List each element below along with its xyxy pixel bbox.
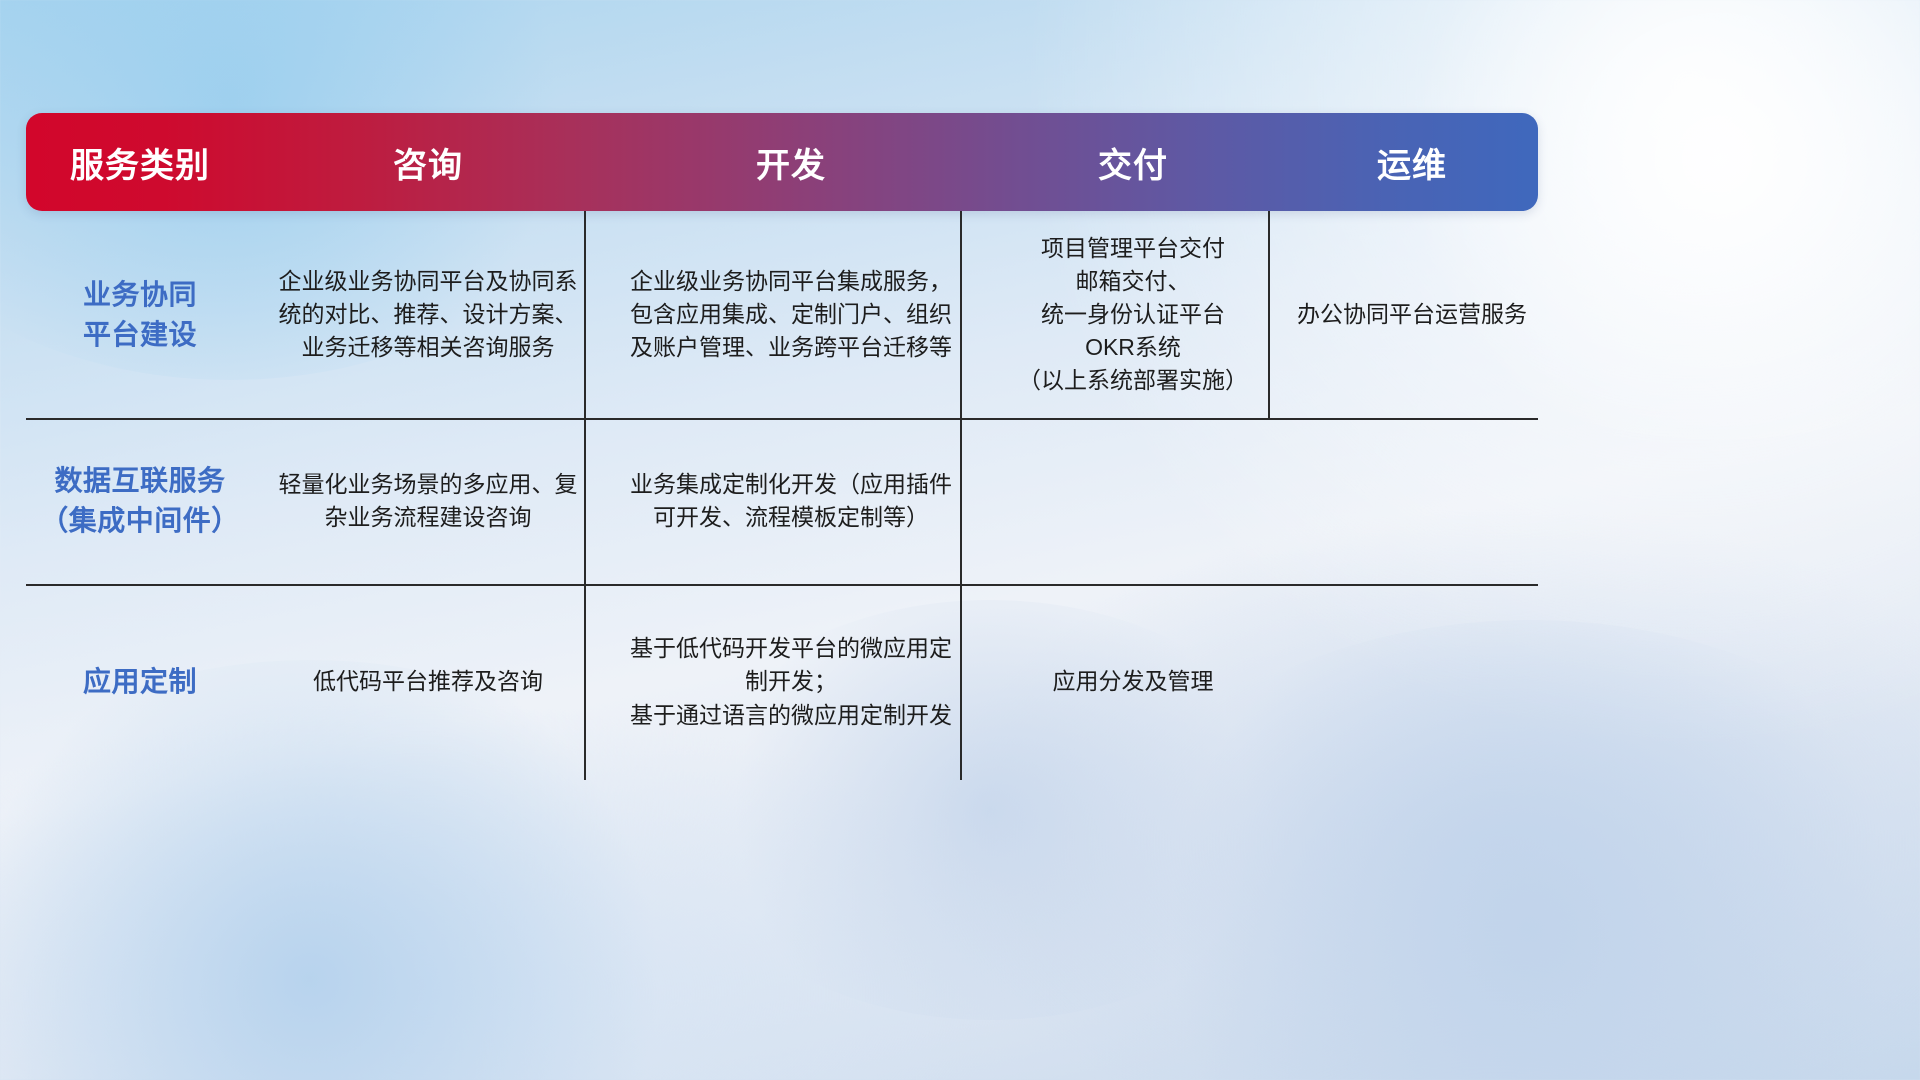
table-header-row: 服务类别 咨询 开发 交付 运维 <box>26 113 1538 211</box>
cell-delivery: 项目管理平台交付 邮箱交付、 统一身份认证平台 OKR系统 （以上系统部署实施） <box>980 211 1286 418</box>
column-divider-1 <box>584 211 586 780</box>
cell-text: 企业级业务协同平台及协同系 统的对比、推荐、设计方案、 业务迁移等相关咨询服务 <box>279 265 578 364</box>
header-cell-development: 开发 <box>602 138 980 187</box>
service-matrix-table: 服务类别 咨询 开发 交付 运维 业务协同 平台建设 企业级业务协同平台及协同系… <box>26 113 1538 780</box>
table-row: 数据互联服务 （集成中间件） 轻量化业务场景的多应用、复 杂业务流程建设咨询 业… <box>26 418 1538 584</box>
column-divider-3 <box>1268 211 1270 418</box>
cell-development: 企业级业务协同平台集成服务， 包含应用集成、定制门户、组织 及账户管理、业务跨平… <box>602 211 980 418</box>
table-row: 应用定制 低代码平台推荐及咨询 基于低代码开发平台的微应用定 制开发； 基于通过… <box>26 584 1538 780</box>
cell-consulting: 轻量化业务场景的多应用、复 杂业务流程建设咨询 <box>254 418 602 584</box>
cell-text: 企业级业务协同平台集成服务， 包含应用集成、定制门户、组织 及账户管理、业务跨平… <box>630 265 952 364</box>
column-divider-2 <box>960 211 962 780</box>
row-divider-1 <box>26 418 1538 420</box>
header-cell-operations: 运维 <box>1286 138 1538 187</box>
cell-text: 项目管理平台交付 邮箱交付、 统一身份认证平台 OKR系统 （以上系统部署实施） <box>1018 232 1248 398</box>
row-category-cell: 应用定制 <box>26 584 254 780</box>
row-category-cell: 业务协同 平台建设 <box>26 211 254 418</box>
cell-text: 低代码平台推荐及咨询 <box>313 665 543 698</box>
cell-operations <box>1286 584 1538 780</box>
row-category-cell: 数据互联服务 （集成中间件） <box>26 418 254 584</box>
cell-text: 业务集成定制化开发（应用插件 可开发、流程模板定制等） <box>630 468 952 534</box>
cell-text: 基于低代码开发平台的微应用定 制开发； 基于通过语言的微应用定制开发 <box>630 632 952 731</box>
table-row: 业务协同 平台建设 企业级业务协同平台及协同系 统的对比、推荐、设计方案、 业务… <box>26 211 1538 418</box>
header-cell-consulting: 咨询 <box>254 138 602 187</box>
table-body: 业务协同 平台建设 企业级业务协同平台及协同系 统的对比、推荐、设计方案、 业务… <box>26 211 1538 780</box>
category-label: 业务协同 平台建设 <box>83 275 197 355</box>
cell-text: 办公协同平台运营服务 <box>1297 298 1527 331</box>
cell-operations <box>1286 418 1538 584</box>
cell-operations: 办公协同平台运营服务 <box>1286 211 1538 418</box>
row-divider-2 <box>26 584 1538 586</box>
cell-development: 业务集成定制化开发（应用插件 可开发、流程模板定制等） <box>602 418 980 584</box>
cell-text: 轻量化业务场景的多应用、复 杂业务流程建设咨询 <box>279 468 578 534</box>
header-cell-service-category: 服务类别 <box>26 138 254 187</box>
header-cell-delivery: 交付 <box>980 138 1286 187</box>
cell-delivery: 应用分发及管理 <box>980 584 1286 780</box>
cell-consulting: 企业级业务协同平台及协同系 统的对比、推荐、设计方案、 业务迁移等相关咨询服务 <box>254 211 602 418</box>
category-label: 应用定制 <box>83 662 197 702</box>
cell-text: 应用分发及管理 <box>1053 665 1214 698</box>
cell-consulting: 低代码平台推荐及咨询 <box>254 584 602 780</box>
cell-development: 基于低代码开发平台的微应用定 制开发； 基于通过语言的微应用定制开发 <box>602 584 980 780</box>
cell-delivery <box>980 418 1286 584</box>
category-label: 数据互联服务 （集成中间件） <box>40 461 240 541</box>
